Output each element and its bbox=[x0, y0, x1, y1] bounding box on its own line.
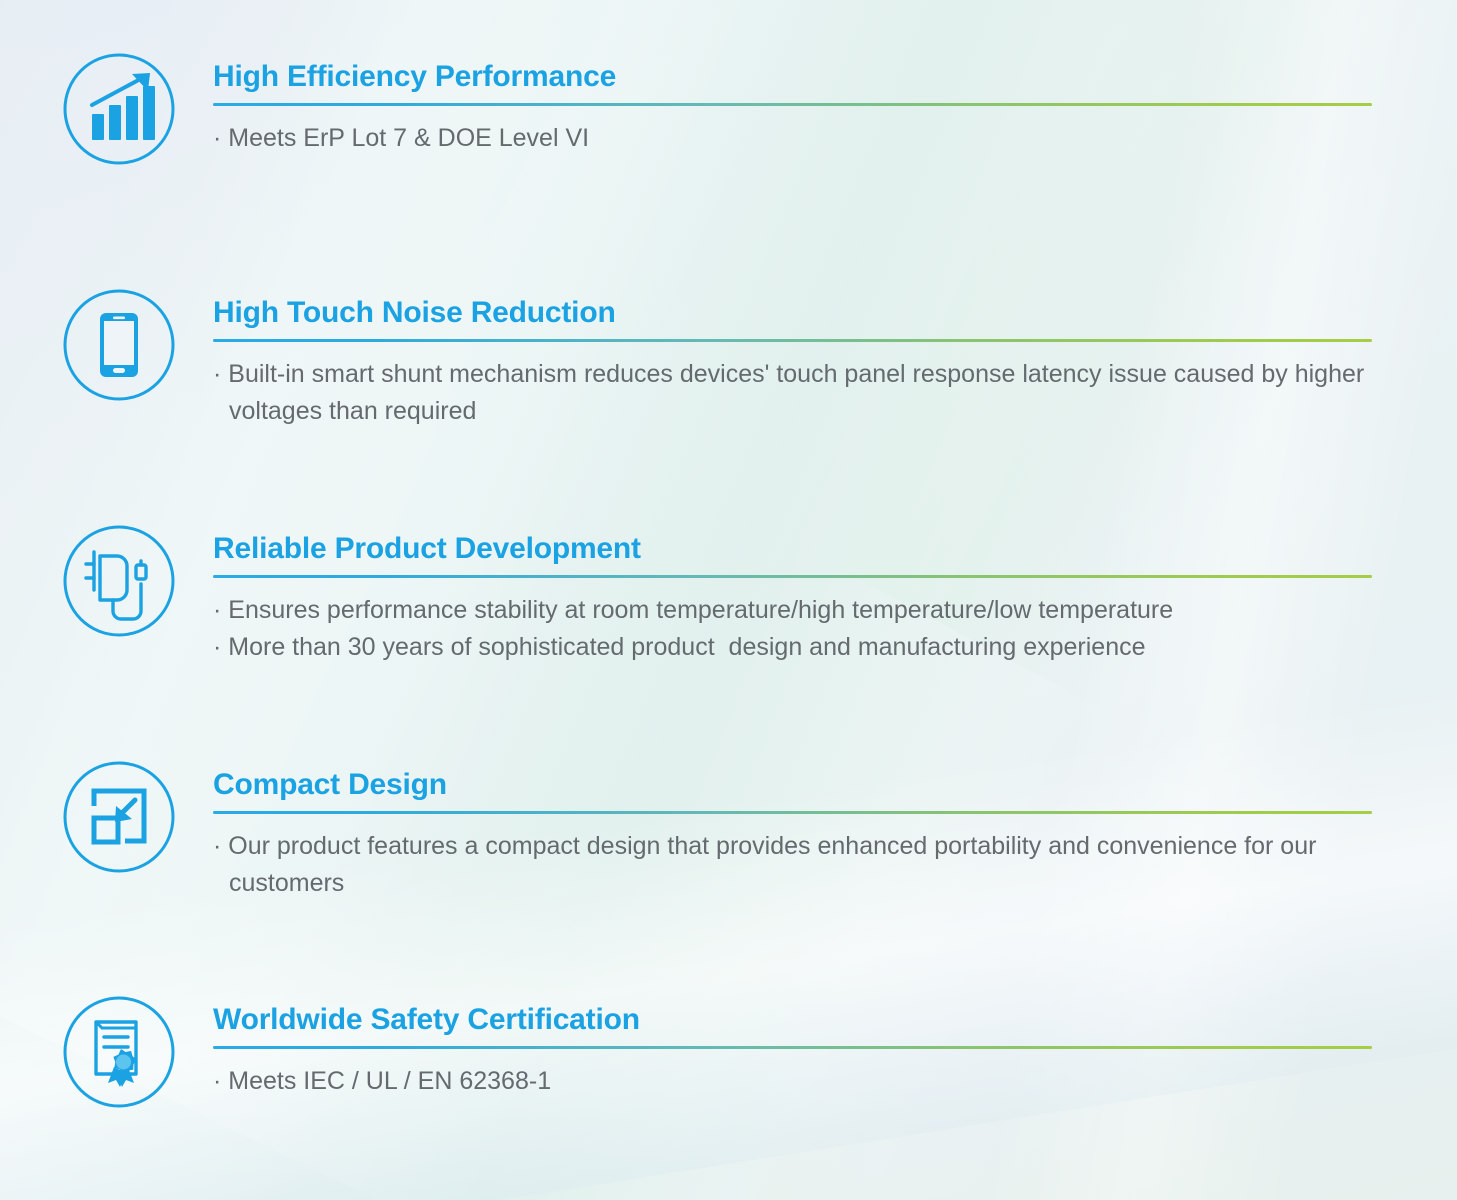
bullet-item: · More than 30 years of sophisticated pr… bbox=[213, 629, 1457, 666]
bullet-item: · Our product features a compact design … bbox=[213, 828, 1339, 902]
title-divider bbox=[213, 811, 1372, 814]
feature-bullets: · Our product features a compact design … bbox=[213, 828, 1457, 902]
title-divider bbox=[213, 339, 1372, 342]
compact-resize-icon bbox=[62, 760, 176, 874]
feature-content: High Efficiency Performance · Meets ErP … bbox=[213, 58, 1457, 157]
background-diagonal-band bbox=[0, 684, 1457, 1200]
title-divider bbox=[213, 1046, 1372, 1049]
growth-chart-icon bbox=[62, 52, 176, 166]
feature-bullets: · Meets ErP Lot 7 & DOE Level VI bbox=[213, 120, 1457, 157]
feature-content: Worldwide Safety Certification · Meets I… bbox=[213, 1001, 1457, 1100]
feature-content: High Touch Noise Reduction · Built-in sm… bbox=[213, 294, 1457, 430]
power-adapter-icon bbox=[62, 524, 176, 638]
feature-title: Compact Design bbox=[213, 766, 1457, 804]
feature-bullets: · Meets IEC / UL / EN 62368-1 bbox=[213, 1063, 1457, 1100]
title-divider bbox=[213, 575, 1372, 578]
feature-highlights-page: High Efficiency Performance · Meets ErP … bbox=[0, 0, 1457, 1200]
feature-bullets: · Built-in smart shunt mechanism reduces… bbox=[213, 356, 1457, 430]
certificate-award-icon bbox=[62, 995, 176, 1109]
smartphone-icon bbox=[62, 288, 176, 402]
feature-title: Worldwide Safety Certification bbox=[213, 1001, 1457, 1039]
feature-content: Compact Design · Our product features a … bbox=[213, 766, 1457, 902]
bullet-item: · Ensures performance stability at room … bbox=[213, 592, 1457, 629]
title-divider bbox=[213, 103, 1372, 106]
feature-bullets: · Ensures performance stability at room … bbox=[213, 592, 1457, 666]
bullet-item: · Meets ErP Lot 7 & DOE Level VI bbox=[213, 120, 1457, 157]
feature-title: Reliable Product Development bbox=[213, 530, 1457, 568]
feature-content: Reliable Product Development · Ensures p… bbox=[213, 530, 1457, 666]
bullet-item: · Meets IEC / UL / EN 62368-1 bbox=[213, 1063, 1457, 1100]
feature-title: High Efficiency Performance bbox=[213, 58, 1457, 96]
bullet-item: · Built-in smart shunt mechanism reduces… bbox=[213, 356, 1394, 430]
feature-title: High Touch Noise Reduction bbox=[213, 294, 1457, 332]
